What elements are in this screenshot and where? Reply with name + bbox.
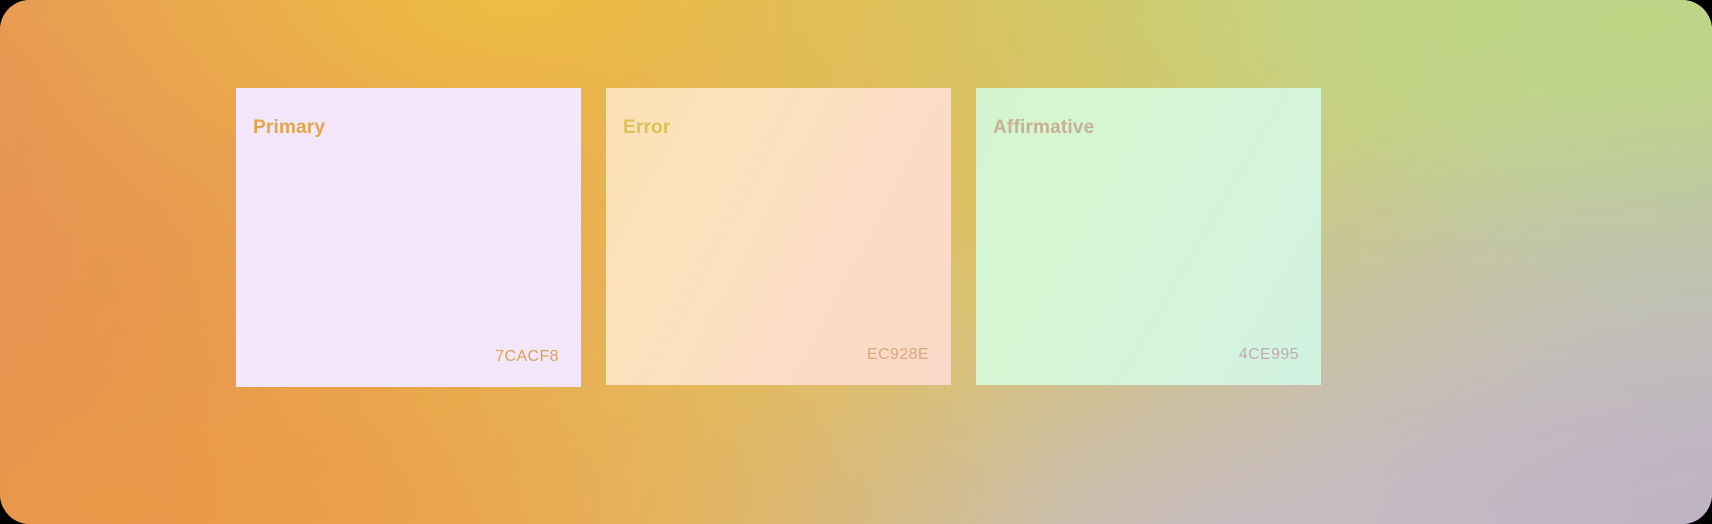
color-swatch-card-error[interactable]: Error EC928E [606,88,951,385]
swatch-hex-value: 7CACF8 [495,349,559,365]
color-swatch-card-primary[interactable]: Primary 7CACF8 [236,88,581,387]
color-swatch-card-affirmative[interactable]: Affirmative 4CE995 [976,88,1321,385]
swatch-title: Primary [253,118,559,137]
color-palette-canvas: Primary 7CACF8 Error EC928E Affirmative … [0,0,1712,524]
swatch-title: Affirmative [993,118,1299,137]
swatch-title: Error [623,118,929,137]
swatch-hex-value: 4CE995 [1239,347,1299,363]
color-swatch-row: Primary 7CACF8 Error EC928E Affirmative … [236,88,1321,387]
swatch-hex-value: EC928E [867,347,929,363]
